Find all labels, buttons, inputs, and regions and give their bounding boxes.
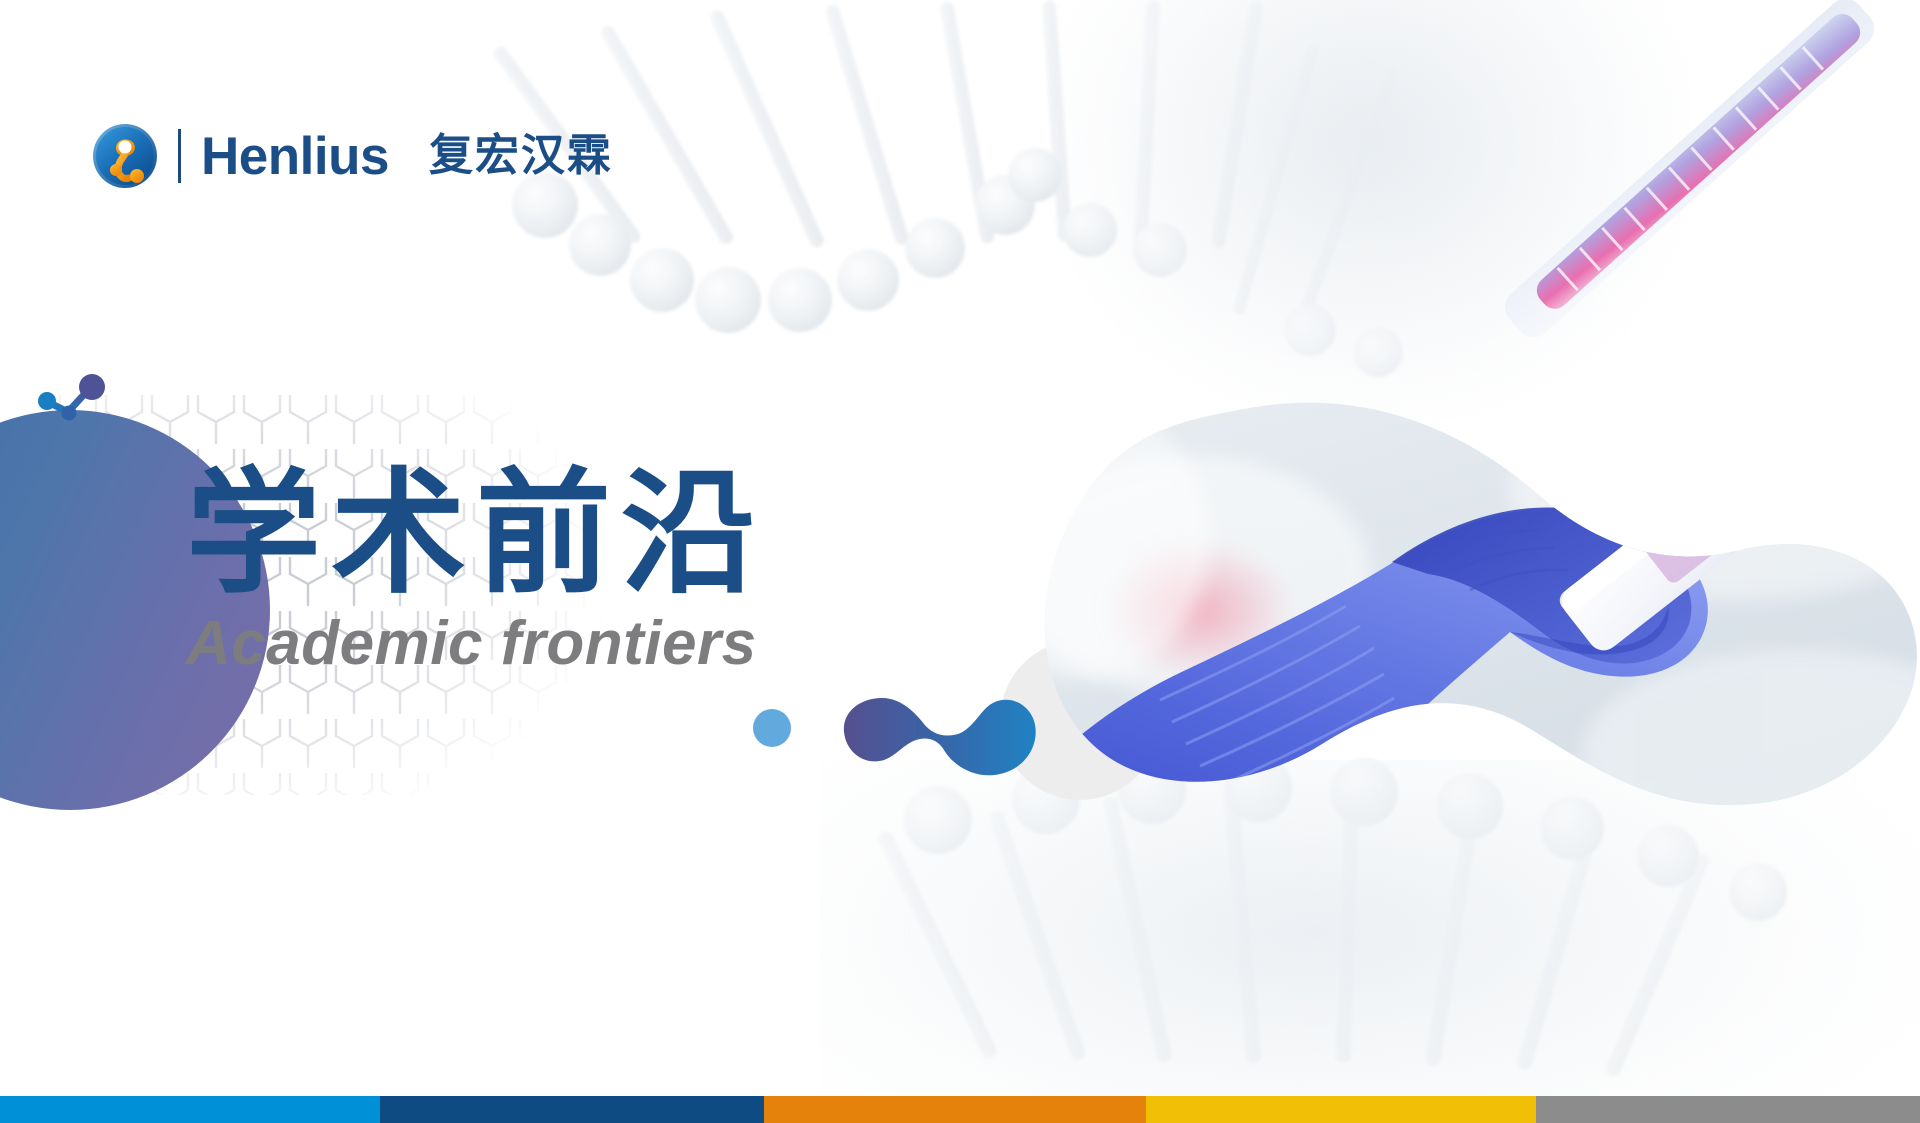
bar-segment-cyan-blue [0,1096,380,1123]
page-title-english: Academic frontiers [186,611,766,676]
page-title-chinese: 学术前沿 [186,462,766,605]
molecule-node-icon [38,374,110,426]
brand-logo-lockup[interactable]: Henlius 复宏汉霖 [92,123,613,189]
bar-segment-yellow [1146,1096,1536,1123]
logo-wordmark: Henlius [201,130,389,183]
decorative-dot-light-blue [753,709,791,747]
bottom-color-bar [0,1096,1920,1123]
pipette-shaft [1330,0,1920,460]
bar-segment-gray [1536,1096,1920,1123]
logo-divider [178,129,181,183]
slide-root: Henlius 复宏汉霖 学术前沿 Academic frontiers [0,0,1920,1123]
henlius-circle-molecule-logo [92,123,158,189]
lab-photo-blob [1040,400,1920,820]
molecule-dumbbell-icon [840,676,1040,786]
background-wash-top-right [1050,0,1690,420]
bar-segment-orange [764,1096,1146,1123]
bar-segment-navy-blue [380,1096,764,1123]
logo-chinese-name: 复宏汉霖 [429,134,613,178]
title-block: 学术前沿 Academic frontiers [186,462,766,676]
